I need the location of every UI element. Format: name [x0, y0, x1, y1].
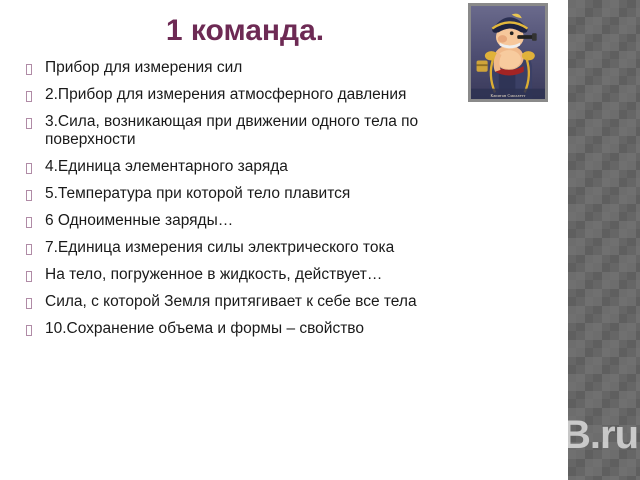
bullet-box-icon [26, 64, 32, 75]
bullet-box-icon [26, 244, 32, 255]
bullet-box-icon [26, 118, 32, 129]
list-item-text: Сила, с которой Земля притягивает к себе… [45, 293, 466, 311]
bullet-box-icon [26, 298, 32, 309]
list-item-text: Прибор для измерения сил [45, 59, 466, 77]
decorative-side-panel: B.ru [568, 0, 640, 480]
list-item-text: 6 Одноименные заряды… [45, 212, 466, 230]
list-item-text: На тело, погруженное в жидкость, действу… [45, 266, 466, 284]
bullet-box-icon [26, 325, 32, 336]
list-item: Сила, с которой Земля притягивает к себе… [26, 293, 466, 311]
list-item: На тело, погруженное в жидкость, действу… [26, 266, 466, 284]
list-item-text: 2.Прибор для измерения атмосферного давл… [45, 86, 466, 104]
list-item: 5.Температура при которой тело плавится [26, 185, 466, 203]
list-item-text: 10.Сохранение объема и формы – свойство [45, 320, 466, 338]
picture-caption: Капитан Смоллетт [471, 93, 545, 98]
list-item: Прибор для измерения сил [26, 59, 466, 77]
cartoon-sea-captain-icon [471, 6, 545, 99]
list-item: 4.Единица элементарного заряда [26, 158, 466, 176]
bullet-box-icon [26, 217, 32, 228]
list-item: 7.Единица измерения силы электрического … [26, 239, 466, 257]
picture-frame[interactable]: Капитан Смоллетт [468, 3, 548, 102]
bullet-box-icon [26, 190, 32, 201]
watermark-text: B.ru [568, 413, 638, 458]
list-item-text: 5.Температура при которой тело плавится [45, 185, 466, 203]
list-item-text: 7.Единица измерения силы электрического … [45, 239, 466, 257]
bullet-box-icon [26, 271, 32, 282]
list-item: 2.Прибор для измерения атмосферного давл… [26, 86, 466, 104]
list-item-text: 3.Сила, возникающая при движении одного … [45, 113, 466, 149]
list-item: 10.Сохранение объема и формы – свойство [26, 320, 466, 338]
diamond-pattern [568, 0, 640, 480]
list-item: 6 Одноименные заряды… [26, 212, 466, 230]
bullet-box-icon [26, 163, 32, 174]
list-item: 3.Сила, возникающая при движении одного … [26, 113, 466, 149]
list-item-text: 4.Единица элементарного заряда [45, 158, 466, 176]
slide-canvas: 1 команда. [0, 0, 640, 480]
bullet-box-icon [26, 91, 32, 102]
bullet-list: Прибор для измерения сил 2.Прибор для из… [26, 59, 466, 347]
page-title: 1 команда. [30, 14, 460, 47]
